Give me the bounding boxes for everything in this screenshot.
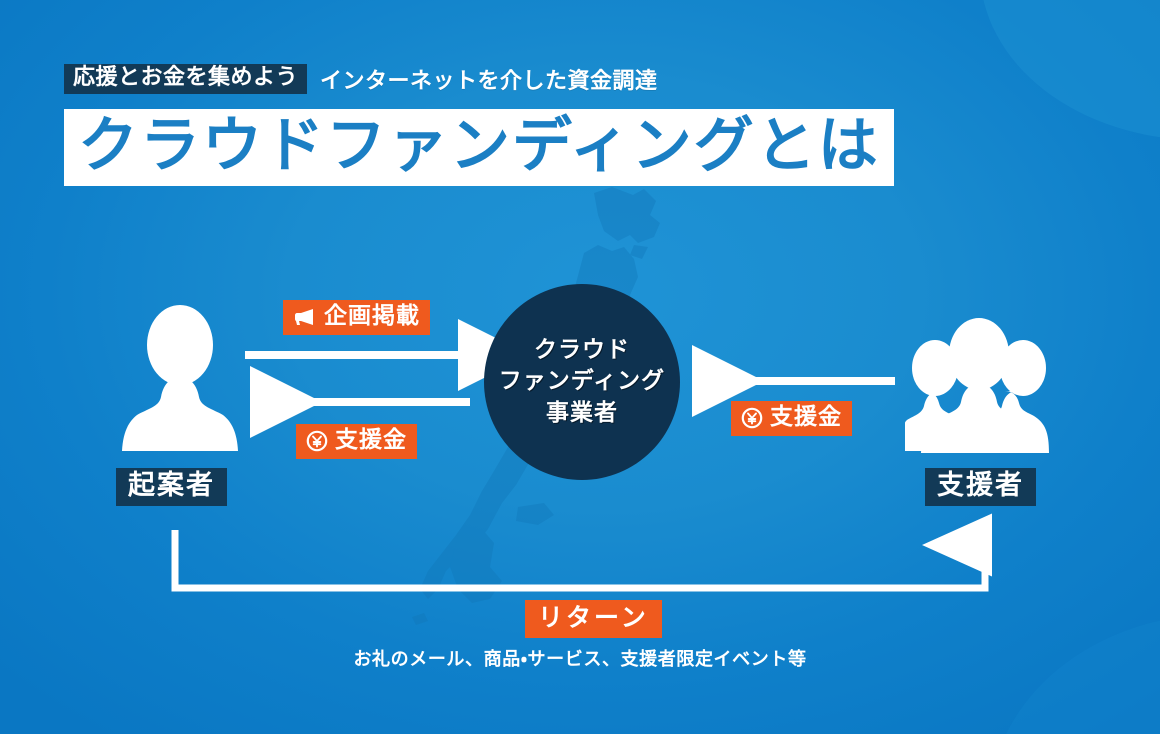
megaphone-icon (293, 308, 317, 326)
arrow-return (175, 530, 985, 588)
return-note: お礼のメール、商品・サービス、支援者限定イベント等 (0, 645, 1160, 671)
yen-coin-icon (306, 430, 328, 452)
hub-line-1: クラウド (534, 337, 630, 364)
infographic-slide: 応援とお金を集めよう インターネットを介した資金調達 クラウドファンディングとは (0, 0, 1160, 734)
single-person-icon (120, 303, 240, 453)
chip-return-label: リターン (538, 605, 649, 630)
hub-line-3: 事業者 (546, 400, 618, 427)
chip-funds-to-creator-label: 支援金 (335, 429, 407, 452)
flow-diagram: クラウド ファンディング 事業者 起案者 支援者 企画掲載 支援金 (0, 0, 1160, 734)
role-label-backer: 支援者 (925, 468, 1036, 506)
chip-funds-from-backer: 支援金 (731, 401, 852, 436)
chip-funds-to-creator: 支援金 (296, 424, 417, 459)
role-label-creator: 起案者 (116, 468, 227, 506)
hub-crowdfunding-operator: クラウド ファンディング 事業者 (484, 284, 680, 480)
chip-post-project-label: 企画掲載 (324, 305, 420, 328)
yen-coin-icon (741, 407, 763, 429)
hub-line-2: ファンディング (499, 368, 665, 395)
chip-post-project: 企画掲載 (283, 300, 430, 335)
chip-funds-from-backer-label: 支援金 (770, 406, 842, 429)
group-people-icon (905, 318, 1053, 453)
chip-return: リターン (525, 600, 662, 638)
